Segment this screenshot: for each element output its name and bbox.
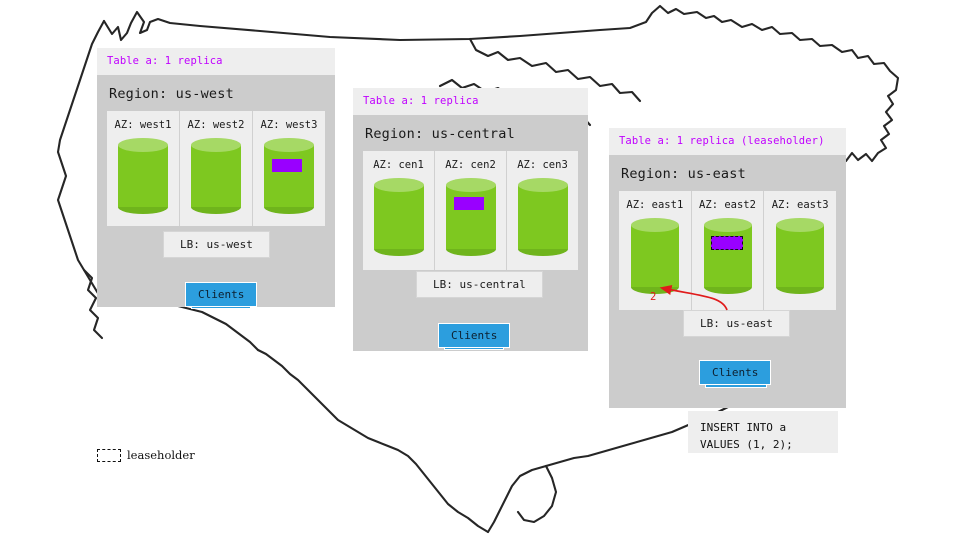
load-balancer-us-west[interactable]: LB: us-west (163, 231, 270, 258)
replica-label-us-central: Table a: 1 replica (353, 88, 588, 115)
az-label-cen3: AZ: cen3 (517, 159, 568, 171)
az-label-cen1: AZ: cen1 (373, 159, 424, 171)
diagram-canvas: Table a: 1 replica Region: us-west AZ: w… (0, 0, 960, 540)
node-cylinder-east1 (631, 218, 679, 294)
replica-block-west3 (272, 159, 302, 172)
arrow-step-label-2: 2 (650, 291, 656, 303)
leaseholder-swatch-icon (97, 449, 121, 462)
az-row-us-west: AZ: west1 AZ: west2 AZ (107, 111, 325, 226)
load-balancer-us-central[interactable]: LB: us-central (416, 271, 543, 298)
replica-label-us-west: Table a: 1 replica (97, 48, 335, 75)
load-balancer-us-east[interactable]: LB: us-east (683, 310, 790, 337)
region-panel-us-west: Table a: 1 replica Region: us-west AZ: w… (97, 48, 335, 307)
clients-label-us-east: Clients (699, 360, 771, 385)
region-title-us-central: Region: us-central (353, 115, 588, 151)
az-label-west3: AZ: west3 (261, 119, 318, 131)
az-cell-cen3[interactable]: AZ: cen3 (506, 151, 578, 270)
az-cell-west1[interactable]: AZ: west1 (107, 111, 179, 226)
region-title-us-west: Region: us-west (97, 75, 335, 111)
az-label-east3: AZ: east3 (772, 199, 829, 211)
az-cell-west2[interactable]: AZ: west2 (179, 111, 252, 226)
az-row-us-central: AZ: cen1 AZ: cen2 (363, 151, 578, 270)
clients-stack-us-central[interactable]: Clients (438, 323, 504, 351)
node-cylinder-east2 (704, 218, 752, 294)
clients-label-us-central: Clients (438, 323, 510, 348)
az-cell-west3[interactable]: AZ: west3 (252, 111, 325, 226)
az-cell-east3[interactable]: AZ: east3 (763, 191, 836, 310)
az-label-cen2: AZ: cen2 (445, 159, 496, 171)
node-cylinder-west1 (118, 138, 168, 214)
region-panel-us-central: Table a: 1 replica Region: us-central AZ… (353, 88, 588, 351)
node-cylinder-cen3 (518, 178, 568, 256)
sql-statement-box: INSERT INTO a VALUES (1, 2); (688, 411, 838, 453)
region-title-us-east: Region: us-east (609, 155, 846, 191)
node-cylinder-cen1 (374, 178, 424, 256)
replica-label-us-east: Table a: 1 replica (leaseholder) (609, 128, 846, 155)
clients-label-us-west: Clients (185, 282, 257, 307)
node-cylinder-west3 (264, 138, 314, 214)
leaseholder-block-east2 (711, 236, 743, 250)
az-label-west2: AZ: west2 (188, 119, 245, 131)
az-label-east2: AZ: east2 (699, 199, 756, 211)
az-label-west1: AZ: west1 (115, 119, 172, 131)
clients-stack-us-east[interactable]: Clients (699, 360, 769, 388)
replica-block-cen2 (454, 197, 484, 210)
node-cylinder-west2 (191, 138, 241, 214)
az-cell-east2[interactable]: AZ: east2 (691, 191, 764, 310)
az-cell-cen2[interactable]: AZ: cen2 (434, 151, 506, 270)
clients-stack-us-west[interactable]: Clients (185, 282, 251, 310)
az-label-east1: AZ: east1 (626, 199, 683, 211)
az-cell-cen1[interactable]: AZ: cen1 (363, 151, 434, 270)
region-panel-us-east: Table a: 1 replica (leaseholder) Region:… (609, 128, 846, 408)
legend-label: leaseholder (127, 448, 195, 462)
node-cylinder-east3 (776, 218, 824, 294)
legend-leaseholder: leaseholder (97, 448, 195, 462)
node-cylinder-cen2 (446, 178, 496, 256)
